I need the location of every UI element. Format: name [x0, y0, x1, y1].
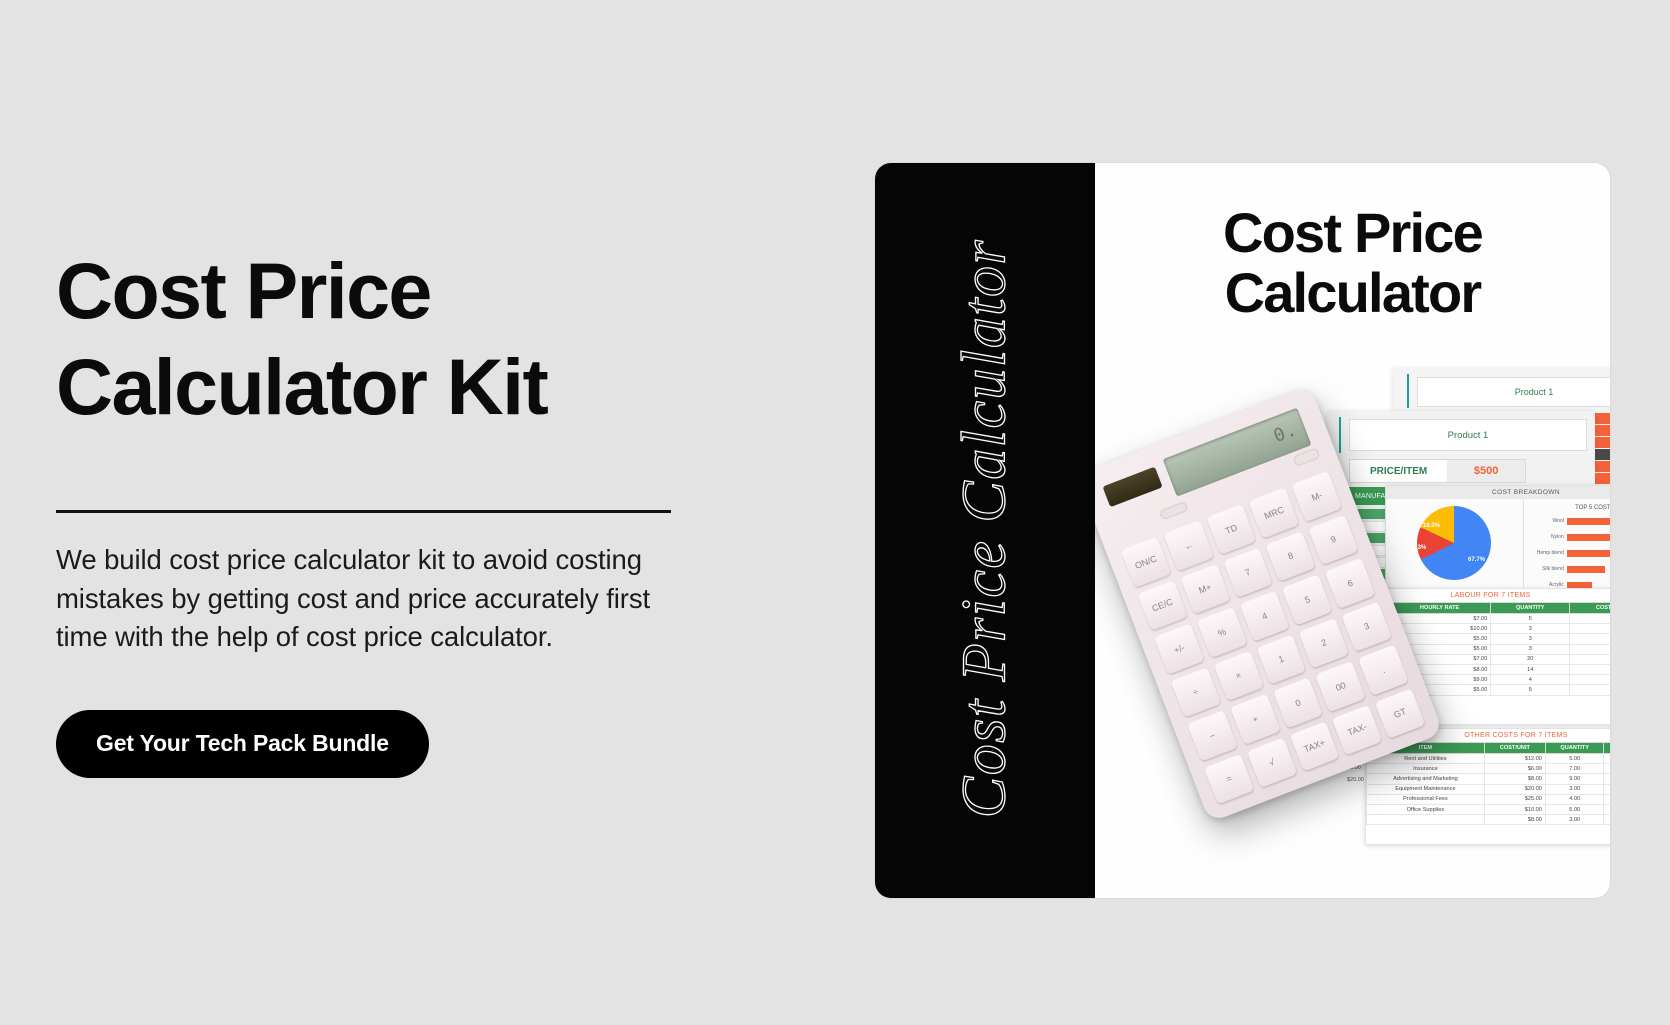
table-row: Advertising and Marketing $8.00 9.00 $2.…: [1367, 774, 1611, 784]
calc-key[interactable]: 8: [1265, 531, 1315, 582]
calc-key[interactable]: .: [1358, 645, 1408, 696]
calculator-display: 0.: [1163, 408, 1312, 497]
calc-key[interactable]: ÷: [1171, 667, 1221, 718]
calc-key[interactable]: MRC: [1249, 487, 1299, 538]
calc-key[interactable]: 1: [1256, 634, 1306, 685]
table-row: Professional Fees $25.00 4.00 $14.73: [1367, 794, 1611, 804]
calc-key[interactable]: √: [1247, 737, 1297, 788]
accent-bar-icon: [1407, 374, 1409, 408]
table-row: Rent and Utilities $12.00 5.00 $1.57: [1367, 754, 1611, 764]
hero-banner: Cost Price Calculator Kit We build cost …: [0, 0, 1670, 1025]
card-white-panel: Cost Price Calculator Product 1 MATERIAL: [1095, 163, 1610, 898]
calc-key[interactable]: −: [1187, 710, 1237, 761]
product-preview-card: Cost Price Calculator Cost Price Calcula…: [875, 163, 1610, 898]
product-title-back: Product 1: [1417, 377, 1610, 407]
other-costs-table: ITEM COST/UNIT QUANTITY COST/ITEM Rent a…: [1366, 742, 1610, 825]
bar-row: Nylon: [1530, 529, 1610, 545]
calc-key[interactable]: 7: [1223, 547, 1273, 598]
price-per-item-value: $500: [1447, 460, 1525, 482]
hero-description: We build cost price calculator kit to av…: [56, 541, 704, 657]
bar-row: Silk blend: [1530, 561, 1610, 577]
table-row: $8.00 3.00 $5.11: [1367, 815, 1611, 825]
calc-key[interactable]: ON/C: [1121, 537, 1171, 588]
table-row: Insurance $6.00 7.00 $10.00: [1367, 764, 1611, 774]
cost-breakdown-title: COST BREAKDOWN: [1386, 486, 1610, 499]
card-black-panel: Cost Price Calculator: [875, 163, 1095, 898]
calc-key[interactable]: CE/C: [1137, 580, 1187, 631]
card-vertical-title: Cost Price Calculator: [950, 176, 1021, 882]
calc-key[interactable]: ×: [1213, 650, 1263, 701]
calc-key[interactable]: 0: [1273, 677, 1323, 728]
calculator-display-value: 0.: [1271, 419, 1301, 447]
pie-value-material: 67.7%: [1468, 557, 1485, 563]
calc-key[interactable]: 4: [1239, 591, 1289, 642]
calc-key[interactable]: GT: [1375, 688, 1425, 739]
pie-slices: [1417, 506, 1491, 580]
spreadsheet-previews: Product 1 MATERIAL $324.14 LABOUR: [1095, 163, 1610, 898]
calc-key[interactable]: 3: [1342, 601, 1392, 652]
calc-key[interactable]: TD: [1206, 504, 1256, 555]
calc-key[interactable]: %: [1197, 607, 1247, 658]
calc-key[interactable]: +/-: [1154, 623, 1204, 674]
pie-value-other: 18.0%: [1423, 523, 1440, 529]
price-per-item-row: PRICE/ITEM $500: [1349, 459, 1526, 483]
bar-row: Wool: [1530, 513, 1610, 529]
bar-row: Hemp blend: [1530, 545, 1610, 561]
price-per-item-label: PRICE/ITEM: [1350, 460, 1447, 482]
accent-bar-icon: [1339, 417, 1341, 453]
table-row: Equipment Maintenance $20.00 3.00 $1.57: [1367, 784, 1611, 794]
hero-left-column: Cost Price Calculator Kit We build cost …: [56, 243, 776, 778]
calc-key[interactable]: 9: [1308, 514, 1358, 565]
calc-key[interactable]: =: [1204, 754, 1254, 805]
title-divider: [56, 510, 671, 513]
calc-key[interactable]: 5: [1282, 574, 1332, 625]
table-row: Office Supplies $10.00 5.00 $0.86: [1367, 804, 1611, 814]
solar-panel-icon: [1102, 467, 1162, 508]
calc-key[interactable]: +: [1230, 694, 1280, 745]
top-costs-title: TOP 5 COSTS: [1530, 505, 1610, 511]
pie-value-labour: 14.3%: [1409, 545, 1426, 551]
calc-key[interactable]: ←: [1163, 520, 1213, 571]
product-title-front: Product 1: [1349, 419, 1587, 451]
calc-key[interactable]: 2: [1299, 618, 1349, 669]
calc-key[interactable]: TAX-: [1332, 704, 1382, 755]
get-tech-pack-bundle-button[interactable]: Get Your Tech Pack Bundle: [56, 710, 429, 778]
calc-key[interactable]: M-: [1292, 471, 1342, 522]
calc-key[interactable]: 6: [1325, 558, 1375, 609]
calc-key[interactable]: M+: [1180, 564, 1230, 615]
calc-key[interactable]: TAX+: [1289, 721, 1339, 772]
calc-key[interactable]: 00: [1315, 661, 1365, 712]
page-title: Cost Price Calculator Kit: [56, 243, 676, 436]
